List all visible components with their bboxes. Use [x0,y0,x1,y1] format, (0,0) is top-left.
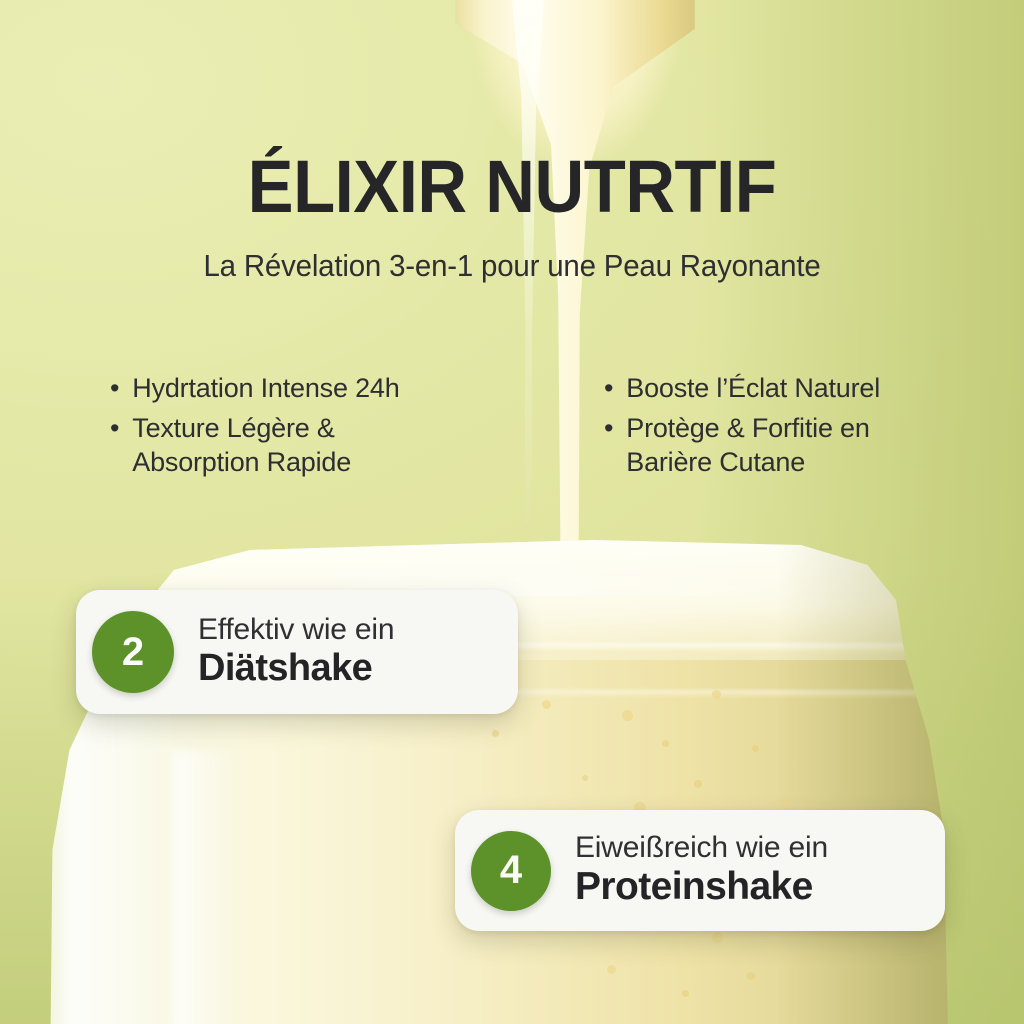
page-subtitle: La Révelation 3-en-1 pour une Peau Rayon… [26,248,999,284]
step-number-badge: 4 [471,831,551,911]
stream-body-shape [455,0,695,574]
glass-left-highlight-secondary [172,750,242,1024]
foam-bubble [712,690,721,699]
foam-bubble [662,740,669,747]
benefit-item: • Booste l’Éclat Naturel [604,372,914,405]
page-title: ÉLIXIR NUTRTIF [36,150,988,224]
foam-bubble [782,798,790,806]
feature-card-text: Effektiv wie ein Diätshake [198,613,394,691]
bullet-icon: • [604,372,613,405]
poster-canvas: ÉLIXIR NUTRTIF La Révelation 3-en-1 pour… [0,0,1024,1024]
feature-card-title: Diätshake [198,646,394,691]
foam-bubble [542,700,551,709]
foam-bubble [622,710,633,721]
foam-bubble [694,780,702,788]
benefits-section: • Hydrtation Intense 24h • Texture Légèr… [0,372,1024,486]
feature-card-caption: Effektiv wie ein [198,613,394,647]
pouring-smoothie-stream [455,0,695,574]
foam-bubble [582,775,588,781]
feature-card-proteinshake: 4 Eiweißreich wie ein Proteinshake [455,810,945,931]
benefit-label: Texture Légère & Absorption Rapide [132,412,351,479]
foam-bubble [747,972,755,980]
foam-bubble [492,730,499,737]
benefits-column-left: • Hydrtation Intense 24h • Texture Légèr… [110,372,440,486]
foam-bubble [712,932,723,943]
bullet-icon: • [110,412,119,479]
benefit-item: • Hydrtation Intense 24h [110,372,440,405]
foam-bubble [752,745,759,752]
benefit-label: Booste l’Éclat Naturel [626,372,880,405]
foam-bubble [607,965,616,974]
bullet-icon: • [604,412,613,479]
feature-card-text: Eiweißreich wie ein Proteinshake [575,831,828,911]
bullet-icon: • [110,372,119,405]
foam-bubble [682,990,689,997]
feature-card-caption: Eiweißreich wie ein [575,831,828,865]
step-number-badge: 2 [92,611,174,693]
benefit-item: • Texture Légère & Absorption Rapide [110,412,440,479]
feature-card-title: Proteinshake [575,864,828,910]
feature-card-diaetshake: 2 Effektiv wie ein Diätshake [76,590,518,714]
benefit-label: Hydrtation Intense 24h [132,372,399,405]
benefits-column-right: • Booste l’Éclat Naturel • Protège & For… [604,372,914,486]
benefit-label: Protège & Forfitie en Barière Cutane [626,412,869,479]
benefit-item: • Protège & Forfitie en Barière Cutane [604,412,914,479]
